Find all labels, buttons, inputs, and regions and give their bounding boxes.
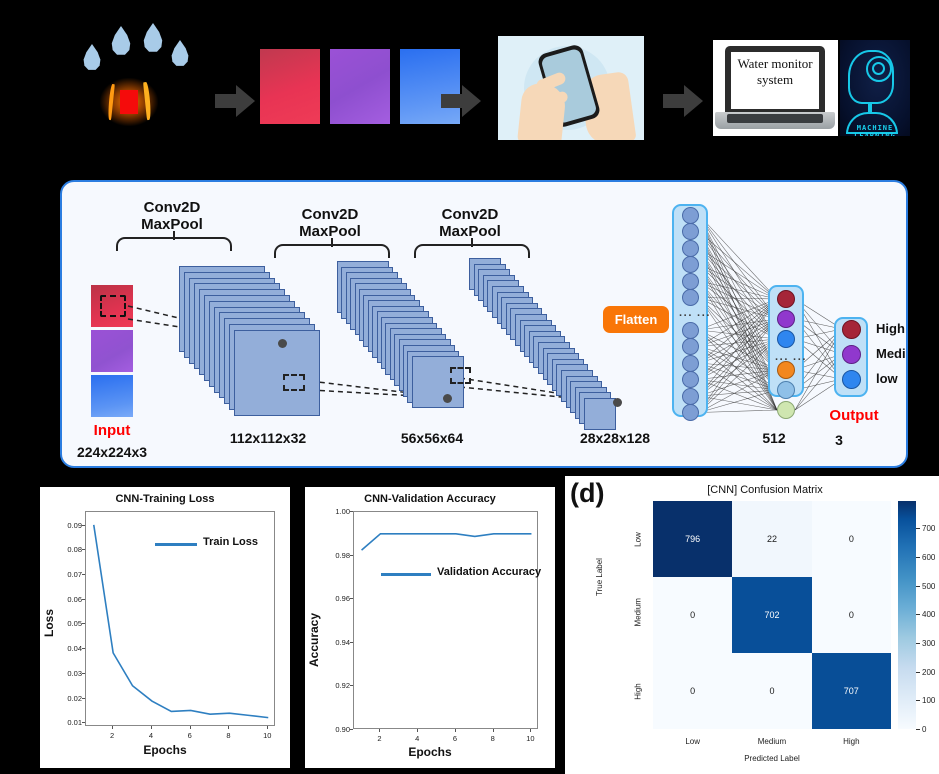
receptive-field-dot [443,394,452,403]
y-tick-label: 0.07 [58,570,82,579]
colorbar-tick-mark [916,672,920,673]
y-tick-label: 0.08 [58,545,82,554]
output-neuron-high [842,320,861,339]
y-tick-label: 0.98 [326,551,350,560]
x-tick-mark [417,729,418,732]
validation-accuracy-panel: CNN-Validation Accuracy 0.900.920.940.96… [305,487,555,768]
red-sample-swatch [260,49,320,124]
y-tick-label: 0.06 [58,595,82,604]
x-tick-label: 10 [520,734,540,743]
axis-label-accuracy: Accuracy [307,613,321,667]
conv-label-line2: MaxPool [270,223,390,240]
colorbar-tick-mark [916,700,920,701]
input-label: Input [72,422,152,439]
flatten-neuron [682,404,699,421]
subfigure-label-d: (d) [570,478,604,509]
dense-neuron-blue [777,330,795,348]
class-label-high: High [876,321,905,336]
legend-swatch-train-loss [155,543,197,546]
legend-swatch-validation-accuracy [381,573,431,576]
x-tick-label: 8 [483,734,503,743]
conv-label-line2: MaxPool [112,216,232,233]
colorbar-tick-label: 700 [922,524,935,533]
y-tick-label: 0.01 [58,718,82,727]
colorbar-tick-mark [916,614,920,615]
y-tick-mark [350,511,353,512]
y-tick-mark [82,574,85,575]
colorbar-tick-mark [916,729,920,730]
chart-title-training-loss: CNN-Training Loss [40,493,290,505]
y-tick-label: 1.00 [326,507,350,516]
y-tick-mark [82,722,85,723]
axis-label-predicted: Predicted Label [653,754,891,763]
conv-label-line1: Conv2D [410,206,530,223]
output-neuron-low [842,370,861,389]
water-droplet-icon [60,18,180,78]
axis-label-epochs-b: Epochs [305,745,555,759]
y-tick-mark [82,623,85,624]
purple-sample-swatch [330,49,390,124]
confusion-matrix-cell: 22 [732,501,811,577]
feature-map-sheet [584,398,616,430]
y-tick-label: 0.90 [326,725,350,734]
y-category-label: High [634,681,643,703]
x-tick-label: 10 [257,731,277,740]
confusion-matrix-cell: 0 [732,653,811,729]
laptop-photo: Water monitor system [713,40,838,136]
validation-accuracy-line [354,512,539,730]
x-tick-label: 8 [218,731,238,740]
colorbar-tick-mark [916,586,920,587]
x-tick-mark [530,729,531,732]
receptive-field-dot [278,339,287,348]
class-label-low: low [876,371,898,386]
laptop-screen-line1: Water monitor [731,56,819,72]
colorbar-tick-label: 200 [922,668,935,677]
x-tick-mark [493,729,494,732]
confusion-matrix-panel: [CNN] Confusion Matrix 7962200702000707 … [565,476,939,774]
confusion-matrix-cell: 707 [812,653,891,729]
dense-neuron-lightblue [777,381,795,399]
receptive-field-box [450,367,471,384]
y-tick-mark [82,698,85,699]
flatten-neuron [682,388,699,405]
colorbar-tick-label: 600 [922,553,935,562]
y-category-label: Medium [634,605,643,627]
y-category-label: Low [634,529,643,551]
y-tick-mark [350,642,353,643]
y-tick-mark [350,685,353,686]
chart-title-validation-accuracy: CNN-Validation Accuracy [305,493,555,505]
x-tick-mark [379,729,380,732]
y-tick-label: 0.94 [326,638,350,647]
flatten-ellipsis: ··· ··· [679,310,711,322]
y-tick-mark [82,599,85,600]
validation-accuracy-axes [353,511,538,729]
legend-label-train-loss: Train Loss [203,536,258,548]
layer-size-label-2: 56x56x64 [362,430,502,446]
flatten-neuron [682,223,699,240]
confusion-matrix-cell: 0 [653,577,732,653]
dense-neuron-red [777,290,795,308]
dense-neuron-purple [777,310,795,328]
colorbar-tick-label: 400 [922,610,935,619]
x-tick-mark [228,726,229,729]
confusion-matrix-grid: 7962200702000707 [653,501,891,729]
dense-neuron-green [777,401,795,419]
colorbar-tick-mark [916,557,920,558]
conv-brace-2 [274,244,390,258]
cnn-architecture-panel: Conv2D MaxPool Conv2D MaxPool Conv2D Max… [60,180,908,468]
x-tick-label: 6 [445,734,465,743]
y-tick-mark [82,525,85,526]
confusion-matrix-cell: 0 [653,653,732,729]
x-tick-label: 6 [180,731,200,740]
x-tick-label: 4 [407,734,427,743]
receptive-field-box [283,374,305,391]
x-tick-mark [190,726,191,729]
conv-block-label-3: Conv2D MaxPool [410,206,530,240]
laptop-screen-line2: system [731,72,819,88]
y-tick-label: 0.02 [58,694,82,703]
x-tick-label: 2 [102,731,122,740]
confusion-matrix-cell: 0 [812,577,891,653]
conv-label-line2: MaxPool [410,223,530,240]
x-category-label: Medium [747,737,797,746]
right-arrow-icon [441,84,481,118]
machine-learning-badge: MACHINE LEARNING [840,40,910,136]
smartphone-photo [498,36,644,140]
flatten-layer-button[interactable]: Flatten [603,306,669,333]
x-tick-label: 4 [141,731,161,740]
y-tick-mark [82,648,85,649]
layer-size-label-1: 112x112x32 [188,430,348,446]
colorbar-tick-mark [916,528,920,529]
y-tick-label: 0.92 [326,681,350,690]
y-tick-label: 0.09 [58,521,82,530]
flatten-neuron [682,371,699,388]
confusion-matrix-cell: 0 [812,501,891,577]
water-sensor-icon [100,78,158,126]
receptive-field-dot [613,398,622,407]
x-tick-mark [112,726,113,729]
conv-block-label-2: Conv2D MaxPool [270,206,390,240]
flatten-neuron [682,355,699,372]
flatten-neuron [682,207,699,224]
legend-label-validation-accuracy: Validation Accuracy [437,566,541,578]
dense-neuron-orange [777,361,795,379]
class-label-medium: Medium [876,346,908,361]
y-tick-label: 0.03 [58,669,82,678]
confusion-matrix-colorbar [898,501,916,729]
conv-label-line1: Conv2D [270,206,390,223]
output-label: Output [814,407,894,424]
flatten-neuron [682,240,699,257]
flatten-neuron [682,256,699,273]
y-tick-mark [82,673,85,674]
x-tick-mark [151,726,152,729]
conv-label-line1: Conv2D [112,199,232,216]
chart-title-confusion-matrix: [CNN] Confusion Matrix [625,484,905,496]
x-tick-mark [455,729,456,732]
ml-badge-label: MACHINE LEARNING [840,124,910,136]
dense-size-label: 512 [734,430,814,446]
conv-brace-1 [116,237,232,251]
axis-label-epochs-a: Epochs [40,743,290,757]
colorbar-tick-mark [916,643,920,644]
confusion-matrix-cell: 702 [732,577,811,653]
output-neuron-medium [842,345,861,364]
input-channel-blue [91,375,133,417]
colorbar-tick-label: 100 [922,696,935,705]
training-loss-panel: CNN-Training Loss 0.010.020.030.040.050.… [40,487,290,768]
y-tick-label: 0.96 [326,594,350,603]
y-tick-mark [350,598,353,599]
x-tick-mark [267,726,268,729]
conv-brace-3 [414,244,530,258]
right-arrow-icon [663,84,703,118]
axis-label-true: True Label [595,558,604,596]
input-size-label: 224x224x3 [62,444,162,460]
conv-block-label-1: Conv2D MaxPool [112,199,232,233]
flatten-neuron [682,289,699,306]
flatten-neuron [682,322,699,339]
y-tick-label: 0.04 [58,644,82,653]
confusion-matrix-cell: 796 [653,501,732,577]
input-receptive-field-box [100,295,126,317]
colorbar-tick-label: 0 [922,725,926,734]
right-arrow-icon [215,84,255,118]
axis-label-loss: Loss [42,609,56,637]
y-tick-mark [82,549,85,550]
y-tick-mark [350,729,353,730]
feature-map-sheet [234,330,320,416]
x-category-label: Low [668,737,718,746]
layer-size-label-3: 28x28x128 [540,430,690,446]
flatten-neuron [682,338,699,355]
flatten-neuron [682,273,699,290]
input-channel-purple [91,330,133,372]
figure-root: Water monitor system MACHINE LEARNING Co… [0,0,939,774]
y-tick-label: 0.05 [58,619,82,628]
x-tick-label: 2 [369,734,389,743]
colorbar-tick-label: 300 [922,639,935,648]
colorbar-tick-label: 500 [922,582,935,591]
output-count-label: 3 [804,432,874,448]
pipeline-row: Water monitor system MACHINE LEARNING [0,0,939,175]
x-category-label: High [826,737,876,746]
y-tick-mark [350,555,353,556]
